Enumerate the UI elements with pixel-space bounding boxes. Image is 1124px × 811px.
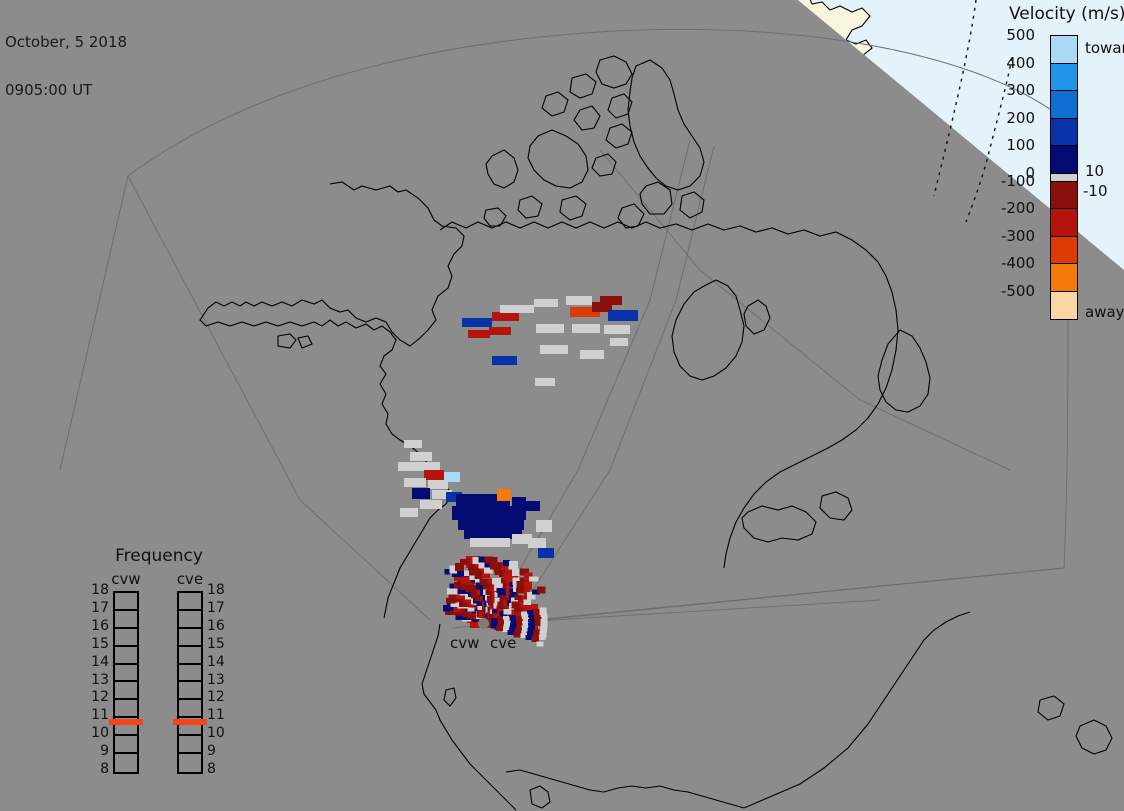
colorbar-tick-200: 200 <box>983 112 1035 124</box>
scatter-cell <box>529 577 538 582</box>
radar-map-view: cvw cve October, 5 2018 0905:00 UT Veloc… <box>0 0 1124 811</box>
scatter-cell <box>539 635 546 640</box>
scatter-cell <box>604 325 630 334</box>
frequency-cell <box>179 593 201 611</box>
frequency-cell <box>115 647 137 665</box>
scatter-cell <box>458 518 524 530</box>
scatter-cell <box>424 470 444 480</box>
frequency-cell <box>179 611 201 629</box>
frequency-tick-left-14: 14 <box>87 657 109 667</box>
scatter-cell <box>497 489 511 501</box>
scatter-cell <box>398 462 418 471</box>
scatter-cell <box>500 305 534 313</box>
scatter-cell <box>610 338 628 346</box>
scatter-cell <box>452 506 526 520</box>
scatter-cell <box>492 312 519 321</box>
frequency-cell <box>115 682 137 700</box>
colorbar-band--250 <box>1051 237 1077 265</box>
colorbar-tick--300: -300 <box>983 230 1035 242</box>
scatter-cell <box>418 462 440 471</box>
velocity-colorbar-title: Velocity (m/s) <box>1009 4 1124 24</box>
scatter-cell <box>489 327 511 335</box>
velocity-upper-threshold-label: 10 <box>1085 162 1104 180</box>
frequency-tick-left-15: 15 <box>87 639 109 649</box>
colorbar-tick--100: -100 <box>983 175 1035 187</box>
frequency-tick-left-10: 10 <box>87 728 109 738</box>
frequency-tick-right-13: 13 <box>207 675 229 685</box>
frequency-cell <box>115 629 137 647</box>
scatter-cell <box>537 586 546 593</box>
frequency-tick-right-14: 14 <box>207 657 229 667</box>
radar-site-marker <box>478 618 489 629</box>
scatter-cell <box>472 557 479 564</box>
scatter-cell <box>475 572 483 579</box>
scatter-cell <box>404 440 422 448</box>
timestamp: October, 5 2018 0905:00 UT <box>5 2 127 130</box>
frequency-cell <box>179 754 201 772</box>
colorbar-band-250 <box>1051 91 1077 119</box>
scatter-cell <box>468 330 490 338</box>
frequency-cell <box>179 736 201 754</box>
colorbar-tick--500: -500 <box>983 285 1035 297</box>
scatter-cell <box>540 614 547 619</box>
colorbar-tick-300: 300 <box>983 84 1035 96</box>
colorbar-band--150 <box>1051 209 1077 237</box>
scatter-cell <box>608 310 638 321</box>
frequency-cell <box>115 700 137 718</box>
frequency-tick-left-9: 9 <box>87 746 109 756</box>
timestamp-time: 0905:00 UT <box>5 82 127 98</box>
scatter-cell <box>540 624 547 629</box>
colorbar-band--450 <box>1051 292 1077 320</box>
frequency-tick-right-12: 12 <box>207 692 229 702</box>
velocity-lower-threshold-label: -10 <box>1083 182 1108 200</box>
velocity-colorbar-gradient <box>1050 35 1078 320</box>
frequency-tick-left-12: 12 <box>87 692 109 702</box>
scatter-cell <box>540 345 568 354</box>
colorbar-tick--200: -200 <box>983 202 1035 214</box>
frequency-marker-cvw <box>109 719 143 725</box>
velocity-colorbar: Velocity (m/s) 5004003002001000-100-200-… <box>975 0 1124 330</box>
scatter-cell <box>572 324 600 333</box>
scatter-cell <box>534 299 558 307</box>
frequency-tick-left-11: 11 <box>87 710 109 720</box>
scatter-cell <box>509 561 518 569</box>
scatter-cell <box>444 472 460 482</box>
frequency-cell <box>179 665 201 683</box>
scatter-cell <box>535 378 555 386</box>
scatter-cell <box>526 501 540 511</box>
scatter-cell <box>492 578 501 585</box>
scatter-cell <box>404 478 426 487</box>
frequency-tick-left-13: 13 <box>87 675 109 685</box>
scatter-cell <box>528 538 546 548</box>
colorbar-tick-500: 500 <box>983 29 1035 41</box>
scatter-cell <box>410 452 432 461</box>
colorbar-band--50 <box>1051 182 1077 210</box>
frequency-tick-left-16: 16 <box>87 621 109 631</box>
colorbar-band-0 <box>1051 174 1077 182</box>
timestamp-date: October, 5 2018 <box>5 34 127 50</box>
colorbar-tick-100: 100 <box>983 139 1035 151</box>
scatter-cell <box>537 641 544 646</box>
scatter-cell <box>412 488 430 499</box>
frequency-cell <box>179 700 201 718</box>
site-label-cve: cve <box>490 634 516 652</box>
frequency-cell <box>115 736 137 754</box>
scatter-cell <box>566 296 592 305</box>
scatter-cell <box>538 548 554 558</box>
frequency-tick-right-15: 15 <box>207 639 229 649</box>
colorbar-band-350 <box>1051 64 1077 92</box>
scatter-cell <box>460 559 469 565</box>
frequency-cell <box>115 754 137 772</box>
colorbar-band-50 <box>1051 146 1077 174</box>
frequency-tick-right-11: 11 <box>207 710 229 720</box>
scatter-cell <box>512 497 526 507</box>
colorbar-band--350 <box>1051 264 1077 292</box>
frequency-column-header-cvw: cvw <box>103 570 149 588</box>
frequency-tick-right-17: 17 <box>207 603 229 613</box>
scatter-cell <box>534 621 541 626</box>
scatter-cell <box>580 350 604 359</box>
frequency-cell <box>115 611 137 629</box>
frequency-scale-cvw <box>113 591 139 774</box>
colorbar-tick--400: -400 <box>983 257 1035 269</box>
frequency-legend: Frequency cvw cve 18171615141312111098 1… <box>85 546 233 786</box>
scatter-cell <box>496 626 503 631</box>
frequency-legend-title: Frequency <box>85 546 233 566</box>
scatter-cell <box>524 600 531 605</box>
frequency-tick-right-9: 9 <box>207 746 229 756</box>
colorbar-band-150 <box>1051 119 1077 147</box>
frequency-tick-right-8: 8 <box>207 764 229 774</box>
frequency-tick-left-17: 17 <box>87 603 109 613</box>
frequency-tick-right-10: 10 <box>207 728 229 738</box>
scatter-cell <box>503 609 511 614</box>
scatter-cell <box>492 356 517 365</box>
site-label-cvw: cvw <box>450 634 479 652</box>
scatter-cell <box>462 318 492 327</box>
frequency-tick-left-18: 18 <box>87 585 109 595</box>
frequency-tick-left-8: 8 <box>87 764 109 774</box>
frequency-cell <box>179 647 201 665</box>
scatter-cell <box>536 520 552 532</box>
colorbar-tick-400: 400 <box>983 57 1035 69</box>
velocity-away-label: away <box>1085 303 1124 321</box>
scatter-cell <box>400 508 418 517</box>
scatter-cell <box>503 560 510 566</box>
frequency-scale-cve <box>177 591 203 774</box>
velocity-toward-label: toward <box>1085 39 1124 57</box>
frequency-marker-cve <box>173 719 207 725</box>
frequency-cell <box>115 665 137 683</box>
scatter-cell <box>470 538 510 547</box>
scatter-cell <box>536 324 564 333</box>
frequency-cell <box>179 682 201 700</box>
scatter-cell <box>512 569 520 576</box>
scatter-cell <box>420 500 442 509</box>
scatter-cell <box>600 296 622 305</box>
frequency-tick-right-18: 18 <box>207 585 229 595</box>
frequency-cell <box>115 593 137 611</box>
frequency-cell <box>179 629 201 647</box>
frequency-tick-right-16: 16 <box>207 621 229 631</box>
scatter-cell <box>524 581 530 587</box>
colorbar-band-450 <box>1051 36 1077 64</box>
